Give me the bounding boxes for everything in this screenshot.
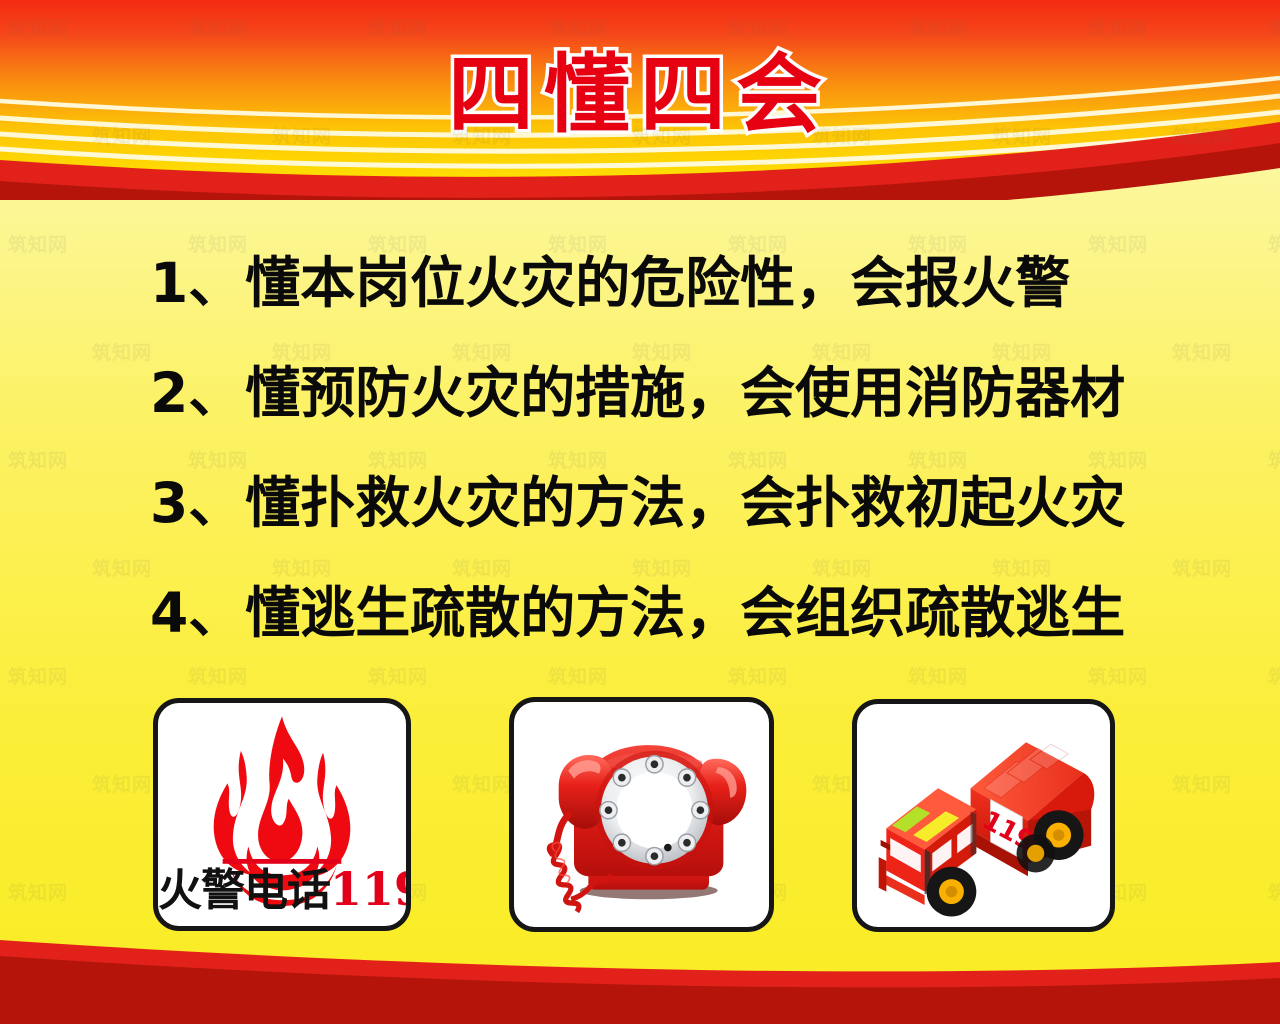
card-fire-truck: 119 bbox=[852, 699, 1115, 932]
list-item: 3、 懂扑救火灾的方法，会扑救初起火灾 bbox=[0, 458, 1280, 568]
list-item-text: 懂本岗位火灾的危险性，会报火警 bbox=[245, 238, 1070, 318]
fire-safety-poster: 四懂四会 筑知网筑知网筑知网筑知网筑知网筑知网筑知网筑知网筑知网筑知网筑知网筑知… bbox=[0, 0, 1280, 1024]
list-item-number: 4、 bbox=[150, 568, 243, 648]
requirements-list: 1、 懂本岗位火灾的危险性，会报火警 2、 懂预防火灾的措施，会使用消防器材 3… bbox=[0, 238, 1280, 678]
poster-footer-band bbox=[0, 904, 1280, 1024]
list-item-number: 3、 bbox=[150, 458, 243, 538]
page-title: 四懂四会 bbox=[448, 52, 832, 140]
page-title-wrap: 四懂四会 bbox=[0, 52, 1280, 140]
icon-card-row: 火警电话119 bbox=[0, 697, 1280, 937]
footer-graphic bbox=[0, 904, 1280, 1024]
rotary-telephone-icon bbox=[514, 702, 769, 927]
list-item: 2、 懂预防火灾的措施，会使用消防器材 bbox=[0, 348, 1280, 458]
list-item-text: 懂预防火灾的措施，会使用消防器材 bbox=[245, 348, 1125, 428]
list-item-number: 2、 bbox=[150, 348, 243, 428]
list-item-text: 懂逃生疏散的方法，会组织疏散逃生 bbox=[245, 568, 1125, 648]
list-item-text: 懂扑救火灾的方法，会扑救初起火灾 bbox=[245, 458, 1125, 538]
card-telephone bbox=[509, 697, 774, 932]
card-fire-emergency-number: 火警电话119 bbox=[153, 698, 411, 931]
list-item: 4、 懂逃生疏散的方法，会组织疏散逃生 bbox=[0, 568, 1280, 678]
fire-truck-icon: 119 bbox=[857, 704, 1110, 927]
list-item-number: 1、 bbox=[150, 238, 243, 318]
list-item: 1、 懂本岗位火灾的危险性，会报火警 bbox=[0, 238, 1280, 348]
